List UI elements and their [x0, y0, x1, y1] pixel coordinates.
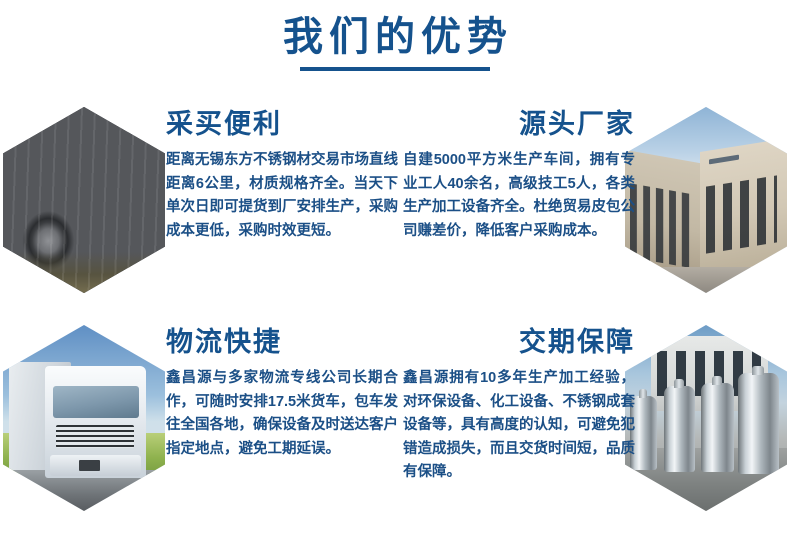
- card-title: 采买便利: [166, 109, 398, 139]
- card-text-block: 采买便利 距离无锡东方不锈钢材交易市场直线距离6公里，材质规格齐全。当天下单次日…: [166, 109, 398, 243]
- card-body: 距离无锡东方不锈钢材交易市场直线距离6公里，材质规格齐全。当天下单次日即可提货到…: [166, 149, 398, 243]
- card-body: 鑫昌源拥有10多年生产加工经验，对环保设备、化工设备、不锈钢成套设备等，具有高度…: [403, 367, 635, 484]
- advantage-card-purchase-convenience: 采买便利 距离无锡东方不锈钢材交易市场直线距离6公里，材质规格齐全。当天下单次日…: [0, 95, 395, 313]
- card-text-block: 交期保障 鑫昌源拥有10多年生产加工经验，对环保设备、化工设备、不锈钢成套设备等…: [403, 327, 635, 485]
- page-header: 我们的优势: [0, 0, 790, 95]
- steel-coils-photo: [3, 107, 165, 293]
- factory-building-photo: [625, 107, 787, 293]
- title-underline-rule: [300, 67, 490, 71]
- card-title: 源头厂家: [403, 109, 635, 139]
- advantage-card-fast-logistics: 物流快捷 鑫昌源与多家物流专线公司长期合作，可随时安排17.5米货车，包车发往全…: [0, 313, 395, 531]
- delivery-truck-photo: [3, 325, 165, 511]
- card-title: 交期保障: [403, 327, 635, 357]
- card-text-block: 物流快捷 鑫昌源与多家物流专线公司长期合作，可随时安排17.5米货车，包车发往全…: [166, 327, 398, 461]
- card-title: 物流快捷: [166, 327, 398, 357]
- card-body: 鑫昌源与多家物流专线公司长期合作，可随时安排17.5米货车，包车发往全国各地，确…: [166, 367, 398, 461]
- advantage-card-source-manufacturer: 源头厂家 自建5000平方米生产车间，拥有专业工人40余名，高级技工5人，各类生…: [395, 95, 790, 313]
- page-title: 我们的优势: [277, 16, 513, 58]
- advantage-card-delivery-guarantee: 交期保障 鑫昌源拥有10多年生产加工经验，对环保设备、化工设备、不锈钢成套设备等…: [395, 313, 790, 531]
- card-body: 自建5000平方米生产车间，拥有专业工人40余名，高级技工5人，各类生产加工设备…: [403, 149, 635, 243]
- card-text-block: 源头厂家 自建5000平方米生产车间，拥有专业工人40余名，高级技工5人，各类生…: [403, 109, 635, 243]
- stainless-tanks-photo: [625, 325, 787, 511]
- advantage-cards-grid: 采买便利 距离无锡东方不锈钢材交易市场直线距离6公里，材质规格齐全。当天下单次日…: [0, 95, 790, 548]
